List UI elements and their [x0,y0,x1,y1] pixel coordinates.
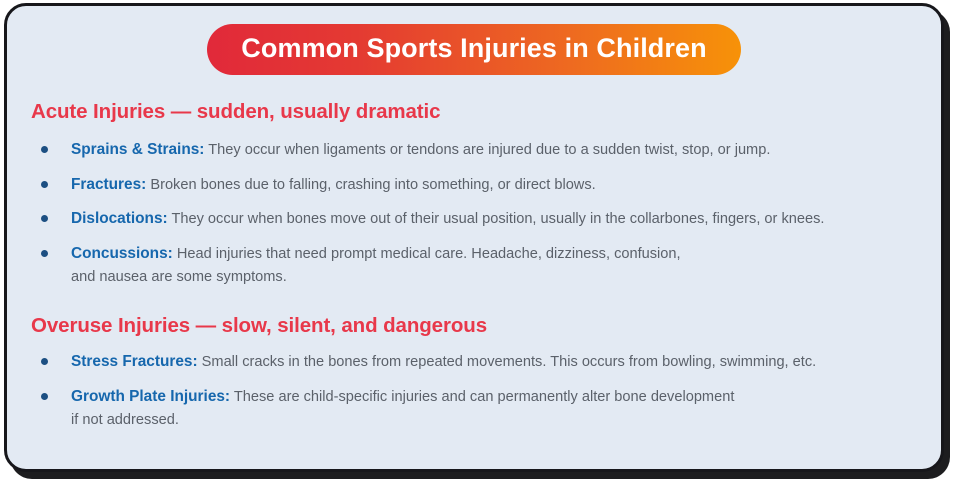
bullet-dot-icon [41,358,48,365]
list-item: Sprains & Strains: They occur when ligam… [31,139,919,161]
list-item-label: Growth Plate Injuries: [71,388,230,405]
list-item: Growth Plate Injuries: These are child-s… [31,386,919,431]
list-item: Fractures: Broken bones due to falling, … [31,174,919,196]
list-item-text: These are child-specific injuries and ca… [234,389,735,405]
infographic-card: Common Sports Injuries in Children Acute… [4,3,944,472]
list-item: Concussions: Head injuries that need pro… [31,243,919,288]
bullet-dot-icon [41,215,48,222]
bullet-dot-icon [41,393,48,400]
section-heading-acute: Acute Injuries — sudden, usually dramati… [31,100,919,125]
list-item-continuation: if not addressed. [71,410,919,431]
bullet-dot-icon [41,250,48,257]
list-item-label: Concussions: [71,245,173,262]
list-item: Dislocations: They occur when bones move… [31,208,919,230]
list-item-text: Broken bones due to falling, crashing in… [150,177,595,193]
title-banner: Common Sports Injuries in Children [7,24,941,75]
list-item-text: They occur when bones move out of their … [171,211,824,227]
page-title: Common Sports Injuries in Children [207,24,740,75]
section-heading-overuse: Overuse Injuries — slow, silent, and dan… [31,314,919,339]
bullet-dot-icon [41,181,48,188]
bullet-dot-icon [41,146,48,153]
list-item-label: Stress Fractures: [71,353,198,370]
list-item-text: Head injuries that need prompt medical c… [177,246,681,262]
list-item-label: Dislocations: [71,210,168,227]
list-item: Stress Fractures: Small cracks in the bo… [31,351,919,373]
list-item-text: They occur when ligaments or tendons are… [208,142,770,158]
content-area: Acute Injuries — sudden, usually dramati… [7,100,941,431]
bullet-list-overuse: Stress Fractures: Small cracks in the bo… [31,351,919,430]
list-item-label: Fractures: [71,176,146,193]
list-item-label: Sprains & Strains: [71,141,204,158]
list-item-text: Small cracks in the bones from repeated … [202,354,817,370]
list-item-continuation: and nausea are some symptoms. [71,267,919,288]
bullet-list-acute: Sprains & Strains: They occur when ligam… [31,139,919,288]
